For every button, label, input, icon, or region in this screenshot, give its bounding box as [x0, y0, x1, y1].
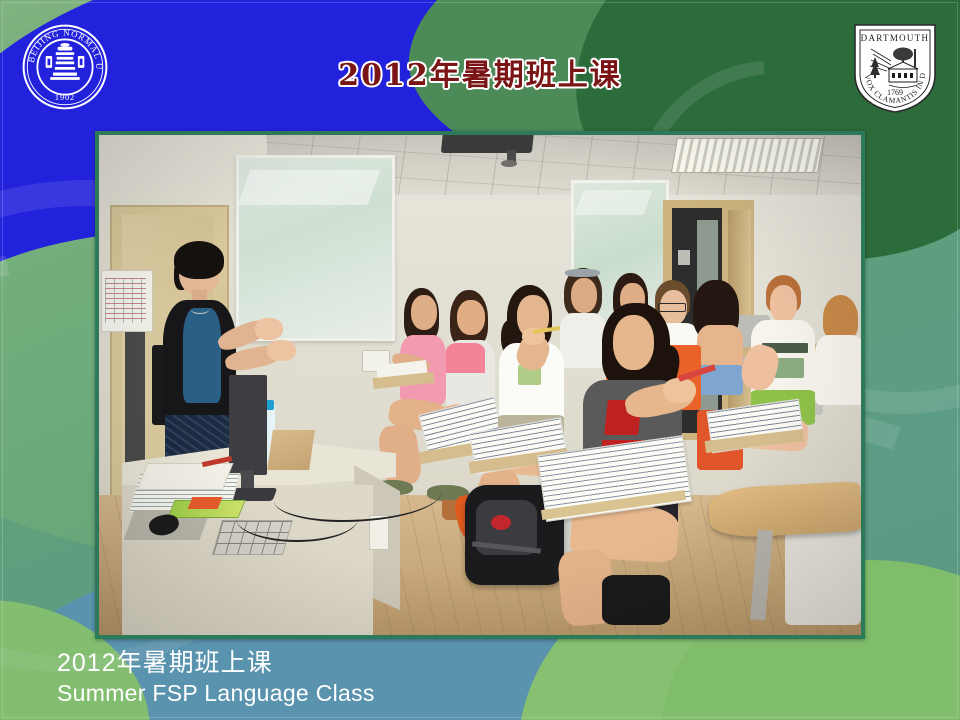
presentation-slide: BEIJING NORMAL UNIVERSITY 1902 DARTMOUTH… — [0, 0, 960, 720]
svg-text:1902: 1902 — [55, 93, 75, 102]
photo-frame — [95, 131, 865, 639]
caption-english: Summer FSP Language Class — [57, 679, 375, 707]
svg-text:DARTMOUTH: DARTMOUTH — [861, 33, 930, 43]
beijing-normal-university-seal-icon: BEIJING NORMAL UNIVERSITY 1902 — [19, 21, 111, 113]
svg-text:1769: 1769 — [887, 88, 903, 97]
dartmouth-college-seal-icon: DARTMOUTH VOX CLAMANTIS IN DESERTO 1769 — [851, 21, 939, 115]
classroom-photo — [99, 135, 861, 635]
caption-chinese: 2012年暑期班上课 — [57, 648, 375, 679]
photo-vignette — [99, 135, 861, 635]
slide-title: 2012年暑期班上课 — [0, 50, 960, 94]
slide-caption: 2012年暑期班上课 Summer FSP Language Class — [57, 648, 375, 707]
